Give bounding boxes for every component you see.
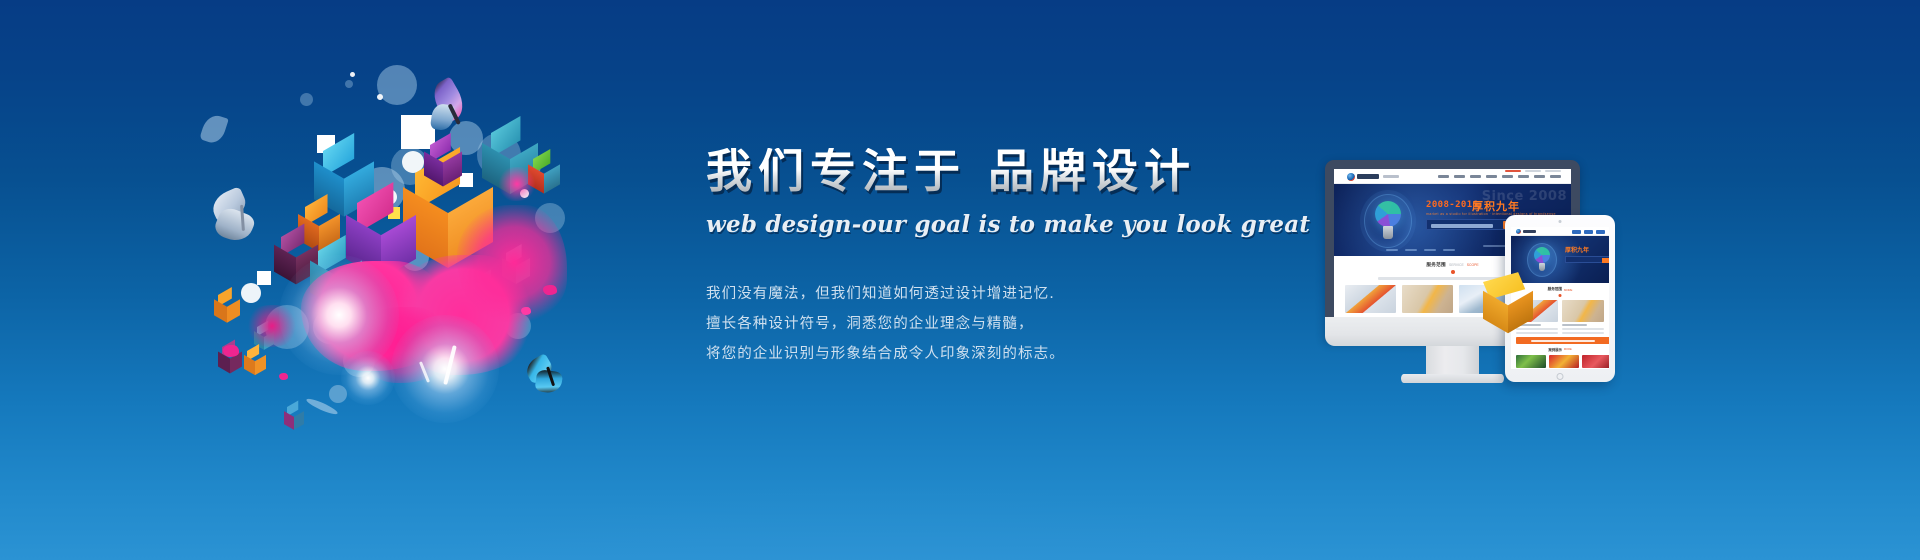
nav-item[interactable] xyxy=(1584,230,1593,234)
white-circle xyxy=(241,283,261,303)
tablet-section-heading: 服务范围 MORE xyxy=(1548,287,1573,292)
monitor-stand-base xyxy=(1401,374,1504,383)
cube-purple-small xyxy=(423,145,463,191)
cube-face-left xyxy=(1483,291,1508,333)
paint-splatter-small xyxy=(279,373,288,380)
carousel-dot[interactable] xyxy=(1386,249,1398,252)
hero-description: 我们没有魔法，但我们知道如何透过设计增进记忆. 擅长各种设计符号，洞悉您的企业理… xyxy=(706,279,1266,369)
section-bullet-icon xyxy=(1559,294,1562,297)
case-thumbnail[interactable] xyxy=(1549,355,1579,368)
cube-tiny-orange-2 xyxy=(243,351,267,379)
light-burst xyxy=(391,315,499,423)
bokeh-circle xyxy=(345,80,353,88)
section-subtitle: SERVICE xyxy=(1449,263,1464,267)
paint-splatter xyxy=(457,205,567,325)
butterfly-blue xyxy=(520,352,571,400)
hero-description-line: 我们没有魔法，但我们知道如何透过设计增进记忆. xyxy=(706,279,1266,309)
bulb-base xyxy=(1383,226,1393,239)
white-circle xyxy=(377,94,383,100)
nav-item[interactable] xyxy=(1486,175,1497,179)
tablet-site-header xyxy=(1511,227,1609,236)
lightbulb-graphic xyxy=(1364,194,1412,248)
tablet-case-list xyxy=(1516,355,1609,368)
logo-mark-icon xyxy=(1516,229,1521,234)
site-header xyxy=(1334,169,1571,184)
gold-3d-cube xyxy=(1483,282,1533,338)
site-utility-bar xyxy=(1505,170,1561,172)
section-heading: 服务范围 SERVICE SCOPE xyxy=(1426,262,1478,268)
service-thumbnail[interactable] xyxy=(1345,285,1396,313)
bokeh-circle xyxy=(377,65,417,105)
hero-description-line: 将您的企业识别与形象结合成令人印象深刻的标志。 xyxy=(706,339,1266,369)
nav-item[interactable] xyxy=(1502,175,1513,179)
tablet-hero-cta[interactable] xyxy=(1565,256,1609,263)
case-thumbnail[interactable] xyxy=(1516,355,1546,368)
hero-copy: 我们专注于 品牌设计 web design-our goal is to mak… xyxy=(706,148,1266,369)
white-square xyxy=(257,271,271,285)
caption-title xyxy=(1562,324,1587,326)
carousel-dot[interactable] xyxy=(1443,249,1455,252)
hero-carousel-dots[interactable] xyxy=(1386,249,1455,252)
thumbnail-caption xyxy=(1562,324,1604,336)
cube-face-right xyxy=(1508,291,1533,333)
cta-bar-text xyxy=(1531,340,1595,342)
site-logo xyxy=(1347,173,1399,181)
site-nav[interactable] xyxy=(1438,175,1561,179)
hero-cta-text xyxy=(1431,224,1493,228)
paint-splatter-small xyxy=(543,285,557,295)
abstract-artwork xyxy=(205,55,595,475)
bulb-glass xyxy=(1534,247,1550,263)
page-subtitle: web design-our goal is to make you look … xyxy=(706,211,1266,238)
service-thumbnail[interactable] xyxy=(1402,285,1453,313)
nav-item[interactable] xyxy=(1470,175,1481,179)
caption-line xyxy=(1562,328,1604,330)
nav-item[interactable] xyxy=(1534,175,1545,179)
logo-mark-icon xyxy=(1347,173,1355,181)
paint-splatter xyxy=(497,167,537,201)
paint-splatter-small xyxy=(521,307,531,315)
case-thumbnail[interactable] xyxy=(1582,355,1609,368)
logo-wordmark xyxy=(1523,230,1536,233)
bokeh-circle xyxy=(300,93,313,106)
tablet-hero-headline: 厚积九年 xyxy=(1565,245,1589,254)
butterfly-white xyxy=(205,186,283,249)
tablet-cta-bar[interactable] xyxy=(1516,337,1609,344)
logo-tagline xyxy=(1383,175,1399,178)
cube-tiny-blue-bottom xyxy=(283,407,305,433)
nav-item[interactable] xyxy=(1550,175,1561,179)
tablet-home-button[interactable] xyxy=(1557,373,1564,380)
carousel-dot[interactable] xyxy=(1405,249,1417,252)
service-thumbnail[interactable] xyxy=(1562,300,1604,322)
hero-year-range: 2008-2016 xyxy=(1426,200,1478,210)
section-bullet-icon xyxy=(1451,270,1455,274)
tablet-hero-cta-button[interactable] xyxy=(1602,258,1609,263)
section-title: 服务范围 xyxy=(1548,287,1562,292)
ribbon-stroke xyxy=(199,112,229,145)
cube-tiny-orange xyxy=(213,295,241,327)
bulb-base xyxy=(1539,263,1545,271)
utility-phone xyxy=(1505,170,1521,172)
section-title: 服务范围 xyxy=(1426,262,1446,268)
caption-line xyxy=(1562,332,1604,334)
bulb-glass xyxy=(1375,201,1401,227)
light-burst xyxy=(341,351,395,405)
nav-item[interactable] xyxy=(1438,175,1449,179)
lightbulb-graphic xyxy=(1527,243,1557,277)
section-more-link[interactable]: SCOPE xyxy=(1467,263,1479,267)
nav-item[interactable] xyxy=(1518,175,1529,179)
nav-item[interactable] xyxy=(1596,230,1605,234)
device-mockup: Since 2008 2008-2016 厚积九年 market as a st… xyxy=(1325,160,1655,390)
monitor-stand-neck xyxy=(1426,346,1479,376)
carousel-dot[interactable] xyxy=(1424,249,1436,252)
tablet-camera-icon xyxy=(1559,220,1562,223)
utility-lang xyxy=(1545,170,1561,172)
nav-item[interactable] xyxy=(1454,175,1465,179)
nav-item[interactable] xyxy=(1572,230,1581,234)
paint-splatter-small xyxy=(223,345,239,357)
hero-banner: 我们专注于 品牌设计 web design-our goal is to mak… xyxy=(0,0,1920,560)
hero-description-line: 擅长各种设计符号，洞悉您的企业理念与精髓， xyxy=(706,309,1266,339)
section-more-link[interactable]: MORE xyxy=(1564,348,1572,351)
white-circle xyxy=(350,72,355,77)
utility-email xyxy=(1525,170,1541,172)
page-title: 我们专注于 品牌设计 xyxy=(706,148,1266,194)
section-more-link[interactable]: MORE xyxy=(1564,288,1572,292)
tablet-section2-heading: 案例展示 MORE xyxy=(1548,347,1571,352)
tablet-hero-banner: 厚积九年 xyxy=(1511,236,1609,283)
tablet-site-nav[interactable] xyxy=(1572,230,1605,234)
section-title: 案例展示 xyxy=(1548,347,1562,352)
logo-wordmark xyxy=(1357,174,1379,179)
